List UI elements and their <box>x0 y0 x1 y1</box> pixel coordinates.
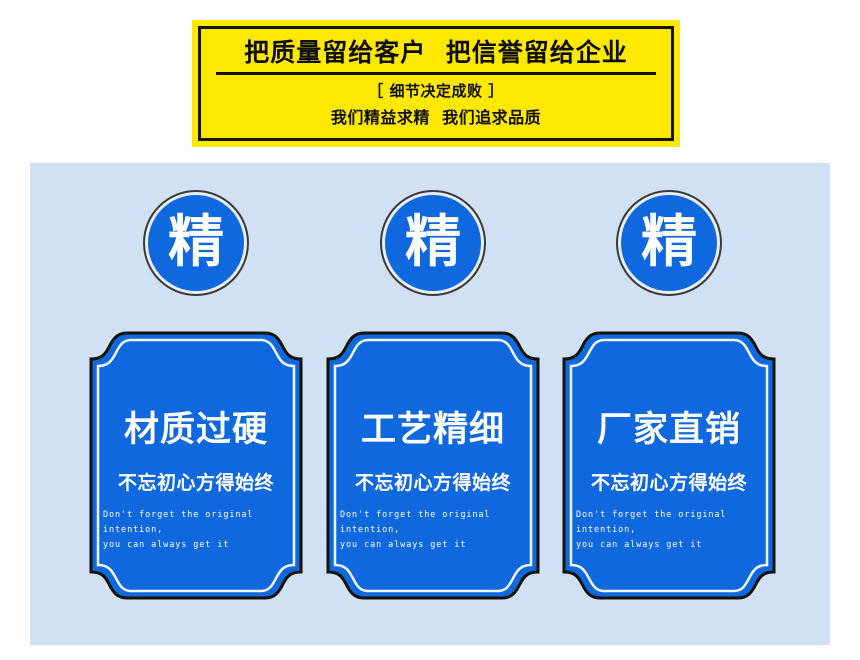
banner-title: 把质量留给客户 把信誉留给企业 <box>244 37 627 68</box>
badge-character: 精 <box>641 215 697 271</box>
feature-panel: 精 材质过硬 不忘初心方得始终 Don't forget the origina… <box>30 163 830 645</box>
headline-banner-frame: 把质量留给客户 把信誉留给企业 ［ 细节决定成败 ］ 我们精益求精 我们追求品质 <box>198 26 674 141</box>
feature-card: 工艺精细 不忘初心方得始终 Don't forget the original … <box>324 325 542 606</box>
feature-card-content: 厂家直销 不忘初心方得始终 Don't forget the original … <box>560 325 778 606</box>
feature-card-title: 材质过硬 <box>124 410 268 450</box>
feature-card-english: Don't forget the original intention, you… <box>87 508 305 553</box>
badge-disc: 精 <box>385 195 481 291</box>
feature-column: 精 厂家直销 不忘初心方得始终 Don't forget the origina… <box>560 163 778 645</box>
badge-disc: 精 <box>148 195 244 291</box>
badge-character: 精 <box>168 215 224 271</box>
feature-card-subtitle: 不忘初心方得始终 <box>591 472 747 495</box>
feature-column: 精 材质过硬 不忘初心方得始终 Don't forget the origina… <box>87 163 305 645</box>
feature-card-subtitle: 不忘初心方得始终 <box>118 472 274 495</box>
feature-card-english: Don't forget the original intention, you… <box>560 508 778 553</box>
feature-badge: 精 <box>380 190 486 296</box>
feature-card: 厂家直销 不忘初心方得始终 Don't forget the original … <box>560 325 778 606</box>
feature-column: 精 工艺精细 不忘初心方得始终 Don't forget the origina… <box>324 163 542 645</box>
feature-card-title: 厂家直销 <box>597 410 741 450</box>
badge-disc: 精 <box>621 195 717 291</box>
feature-card-title: 工艺精细 <box>361 410 505 450</box>
banner-subtitle-bracket: ［ 细节决定成败 ］ <box>368 82 503 102</box>
feature-badge: 精 <box>143 190 249 296</box>
feature-card: 材质过硬 不忘初心方得始终 Don't forget the original … <box>87 325 305 606</box>
feature-card-subtitle: 不忘初心方得始终 <box>355 472 511 495</box>
banner-subtitle-slogan: 我们精益求精 我们追求品质 <box>331 108 541 129</box>
banner-divider <box>216 72 656 75</box>
feature-badge: 精 <box>616 190 722 296</box>
feature-card-english: Don't forget the original intention, you… <box>324 508 542 553</box>
headline-banner: 把质量留给客户 把信誉留给企业 ［ 细节决定成败 ］ 我们精益求精 我们追求品质 <box>192 20 680 147</box>
badge-character: 精 <box>405 215 461 271</box>
feature-card-content: 工艺精细 不忘初心方得始终 Don't forget the original … <box>324 325 542 606</box>
feature-card-content: 材质过硬 不忘初心方得始终 Don't forget the original … <box>87 325 305 606</box>
